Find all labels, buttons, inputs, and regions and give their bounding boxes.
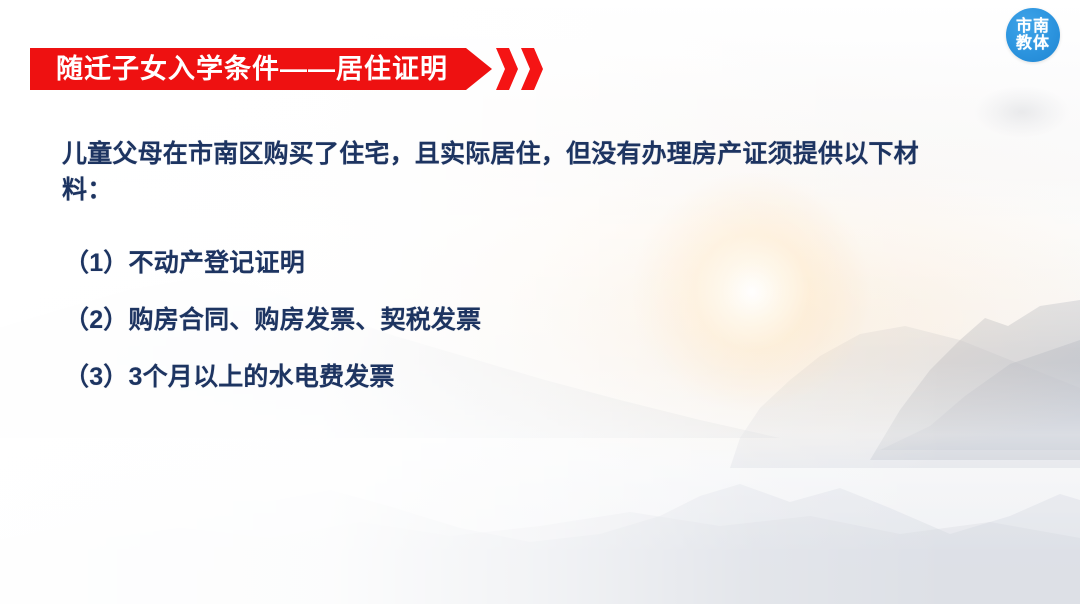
banner-chevron-group — [496, 48, 546, 90]
chevron-right-icon — [496, 48, 518, 90]
slide-title: 随迁子女入学条件——居住证明 — [56, 56, 448, 83]
chevron-right-icon — [521, 48, 543, 90]
title-banner-bar: 随迁子女入学条件——居住证明 — [30, 48, 466, 90]
list-item: （3）3个月以上的水电费发票 — [64, 362, 964, 392]
intro-paragraph: 儿童父母在市南区购买了住宅，且实际居住，但没有办理房产证须提供以下材料： — [62, 136, 942, 208]
intro-paragraph-wrap: 儿童父母在市南区购买了住宅，且实际居住，但没有办理房产证须提供以下材料： — [62, 136, 942, 208]
title-banner: 随迁子女入学条件——居住证明 — [30, 48, 546, 90]
list-item: （2）购房合同、购房发票、契税发票 — [64, 305, 964, 335]
list-item: （1）不动产登记证明 — [64, 248, 964, 278]
logo-line-top: 市南 — [1016, 18, 1050, 35]
banner-arrowhead-icon — [466, 48, 492, 90]
requirements-list: （1）不动产登记证明 （2）购房合同、购房发票、契税发票 （3）3个月以上的水电… — [64, 248, 964, 392]
shinan-education-sports-logo: 市南 教体 — [1006, 8, 1060, 62]
background-mountain-ridge-foreground — [0, 492, 1080, 604]
logo-line-bottom: 教体 — [1016, 35, 1050, 52]
background-mountain-ridge-near — [0, 430, 1080, 604]
slide-canvas: 市南 教体 随迁子女入学条件——居住证明 儿童父母在市南区购买了住宅，且实际居住… — [0, 0, 1080, 604]
